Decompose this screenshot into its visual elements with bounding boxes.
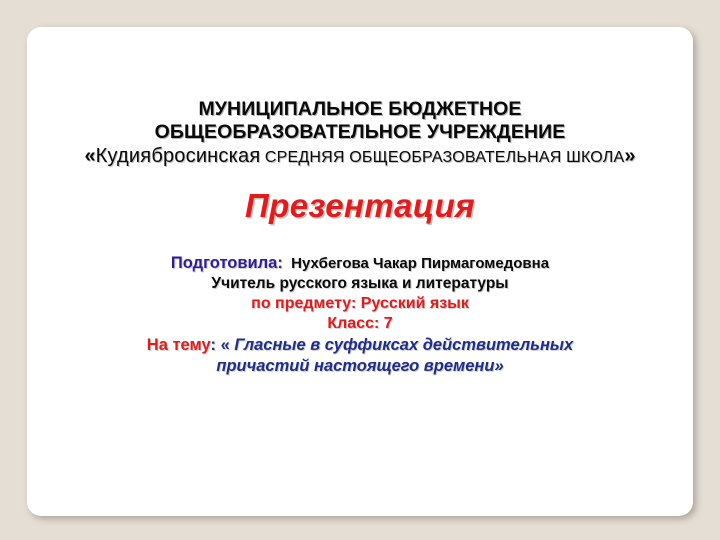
organization-heading: МУНИЦИПАЛЬНОЕ БЮДЖЕТНОЕ ОБЩЕОБРАЗОВАТЕЛЬ… <box>27 100 693 166</box>
organization-line-1: МУНИЦИПАЛЬНОЕ БЮДЖЕТНОЕ <box>27 100 693 120</box>
topic-text-line-1: Гласные в суффиксах действительных <box>234 336 573 354</box>
school-name: Кудиябросинская <box>96 145 261 167</box>
credits-block: Подготовила: Нухбегова Чакар Пирмагомедо… <box>27 253 693 377</box>
open-quote-glyph: « <box>85 145 96 167</box>
organization-line-2: ОБЩЕОБРАЗОВАТЕЛЬНОЕ УЧРЕЖДЕНИЕ <box>27 123 693 143</box>
topic-colon: : <box>210 336 220 354</box>
organization-line-3: «Кудиябросинская СРЕДНЯЯ ОБЩЕОБРАЗОВАТЕЛ… <box>27 146 693 166</box>
school-type: СРЕДНЯЯ ОБЩЕОБРАЗОВАТЕЛЬНАЯ ШКОЛА <box>265 149 625 166</box>
slide-stage: МУНИЦИПАЛЬНОЕ БЮДЖЕТНОЕ ОБЩЕОБРАЗОВАТЕЛЬ… <box>0 0 720 540</box>
topic-label: На тему <box>147 336 211 354</box>
slide-card: МУНИЦИПАЛЬНОЕ БЮДЖЕТНОЕ ОБЩЕОБРАЗОВАТЕЛЬ… <box>27 27 693 516</box>
grade-line: Класс: 7 <box>27 314 693 334</box>
page-title: Презентация <box>27 189 693 222</box>
close-quote-glyph: » <box>624 145 635 167</box>
topic-line-2: причастий настоящего времени» <box>27 356 693 377</box>
subject-line: по предмету: Русский язык <box>27 294 693 314</box>
topic-close-quote: » <box>494 357 503 375</box>
prepared-by-line: Подготовила: Нухбегова Чакар Пирмагомедо… <box>27 253 693 274</box>
prepared-by-label: Подготовила: <box>171 254 283 272</box>
slide-content: МУНИЦИПАЛЬНОЕ БЮДЖЕТНОЕ ОБЩЕОБРАЗОВАТЕЛЬ… <box>27 27 693 377</box>
topic-line-1: На тему: « Гласные в суффиксах действите… <box>27 335 693 356</box>
author-name: Нухбегова Чакар Пирмагомедовна <box>291 255 549 272</box>
topic-open-quote: « <box>221 336 235 354</box>
topic-text-line-2: причастий настоящего времени <box>216 357 494 375</box>
teacher-role-line: Учитель русского языка и литературы <box>27 274 693 294</box>
